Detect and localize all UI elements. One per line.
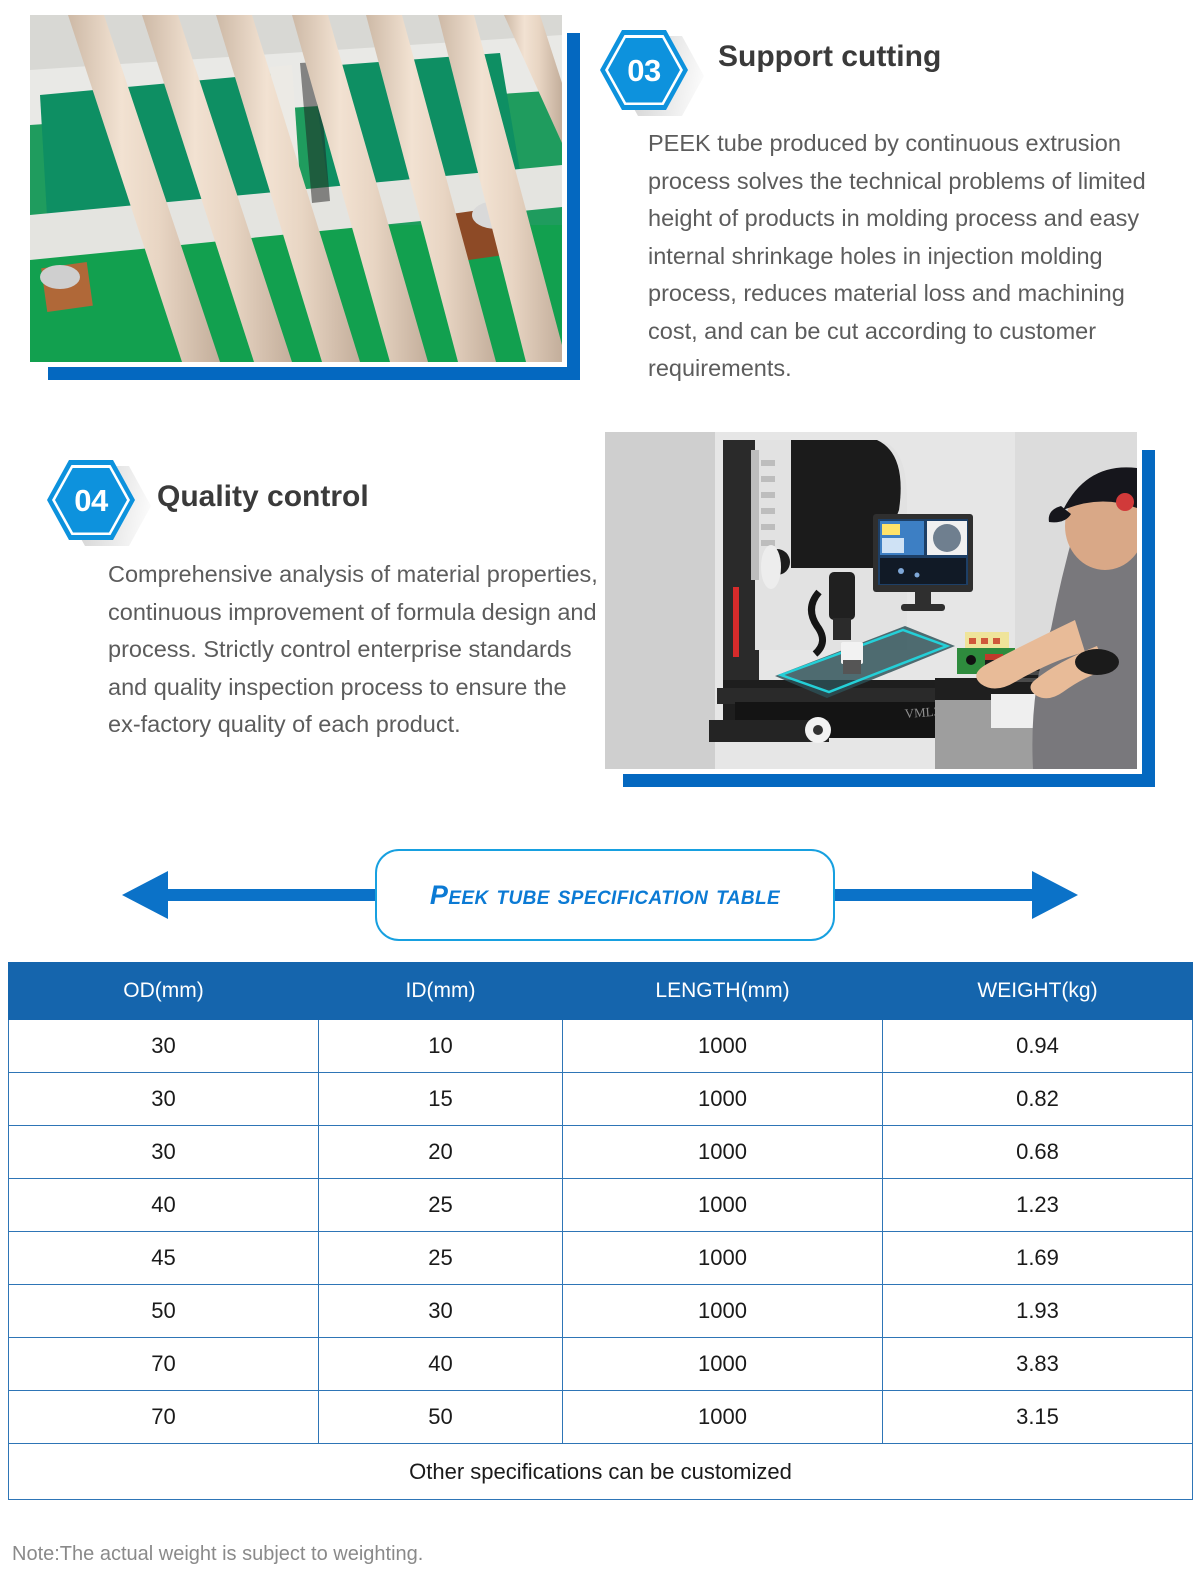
banner-title-box: Peek tube specification table <box>375 849 835 941</box>
cell-weight: 1.69 <box>883 1232 1193 1285</box>
photo-quality-inspection: VML300 <box>605 432 1155 787</box>
cell-length: 1000 <box>563 1338 883 1391</box>
cell-id: 25 <box>319 1179 563 1232</box>
table-header-row: OD(mm) ID(mm) LENGTH(mm) WEIGHT(kg) <box>9 963 1193 1020</box>
cell-od: 45 <box>9 1232 319 1285</box>
cell-od: 70 <box>9 1391 319 1444</box>
cell-length: 1000 <box>563 1285 883 1338</box>
cell-id: 30 <box>319 1285 563 1338</box>
cell-length: 1000 <box>563 1020 883 1073</box>
photo-peek-rods-image <box>30 15 562 362</box>
cell-length: 1000 <box>563 1179 883 1232</box>
cell-od: 30 <box>9 1073 319 1126</box>
badge-03: 03 <box>600 30 688 110</box>
cell-length: 1000 <box>563 1391 883 1444</box>
cell-weight: 1.93 <box>883 1285 1193 1338</box>
cell-length: 1000 <box>563 1073 883 1126</box>
section-body-quality-control: Comprehensive analysis of material prope… <box>108 556 598 744</box>
cell-weight: 0.68 <box>883 1126 1193 1179</box>
cell-od: 40 <box>9 1179 319 1232</box>
table-footer-row: Other specifications can be customized <box>9 1444 1193 1500</box>
cell-od: 70 <box>9 1338 319 1391</box>
table-row: 70 50 1000 3.15 <box>9 1391 1193 1444</box>
section-title-support-cutting: Support cutting <box>718 40 941 74</box>
cell-weight: 1.23 <box>883 1179 1193 1232</box>
cell-weight: 0.82 <box>883 1073 1193 1126</box>
table-row: 30 10 1000 0.94 <box>9 1020 1193 1073</box>
badge-number: 04 <box>74 485 107 516</box>
table-footer-note: Other specifications can be customized <box>9 1444 1193 1500</box>
table-row: 50 30 1000 1.93 <box>9 1285 1193 1338</box>
cell-id: 10 <box>319 1020 563 1073</box>
photo-quality-inspection-image: VML300 <box>605 432 1137 769</box>
badge-04: 04 <box>47 460 135 540</box>
cell-length: 1000 <box>563 1232 883 1285</box>
cell-weight: 3.83 <box>883 1338 1193 1391</box>
table-header-od: OD(mm) <box>9 963 319 1020</box>
section-body-support-cutting: PEEK tube produced by continuous extrusi… <box>648 125 1163 388</box>
table-row: 45 25 1000 1.69 <box>9 1232 1193 1285</box>
product-spec-page: 03 Support cutting PEEK tube produced by… <box>0 0 1200 1585</box>
cell-length: 1000 <box>563 1126 883 1179</box>
table-row: 30 20 1000 0.68 <box>9 1126 1193 1179</box>
table-row: 30 15 1000 0.82 <box>9 1073 1193 1126</box>
cell-weight: 0.94 <box>883 1020 1193 1073</box>
table-header-length: LENGTH(mm) <box>563 963 883 1020</box>
cell-id: 25 <box>319 1232 563 1285</box>
cell-id: 20 <box>319 1126 563 1179</box>
spec-table: OD(mm) ID(mm) LENGTH(mm) WEIGHT(kg) 30 1… <box>8 962 1193 1500</box>
cell-od: 30 <box>9 1020 319 1073</box>
banner-title: Peek tube specification table <box>430 880 780 911</box>
cell-od: 30 <box>9 1126 319 1179</box>
weight-note: Note:The actual weight is subject to wei… <box>12 1543 423 1566</box>
cell-id: 40 <box>319 1338 563 1391</box>
photo-peek-rods <box>30 15 580 380</box>
badge-number: 03 <box>627 55 660 86</box>
table-header-weight: WEIGHT(kg) <box>883 963 1193 1020</box>
table-header-id: ID(mm) <box>319 963 563 1020</box>
section-title-quality-control: Quality control <box>157 480 369 514</box>
cell-od: 50 <box>9 1285 319 1338</box>
cell-id: 15 <box>319 1073 563 1126</box>
cell-weight: 3.15 <box>883 1391 1193 1444</box>
cell-id: 50 <box>319 1391 563 1444</box>
table-row: 40 25 1000 1.23 <box>9 1179 1193 1232</box>
table-row: 70 40 1000 3.83 <box>9 1338 1193 1391</box>
